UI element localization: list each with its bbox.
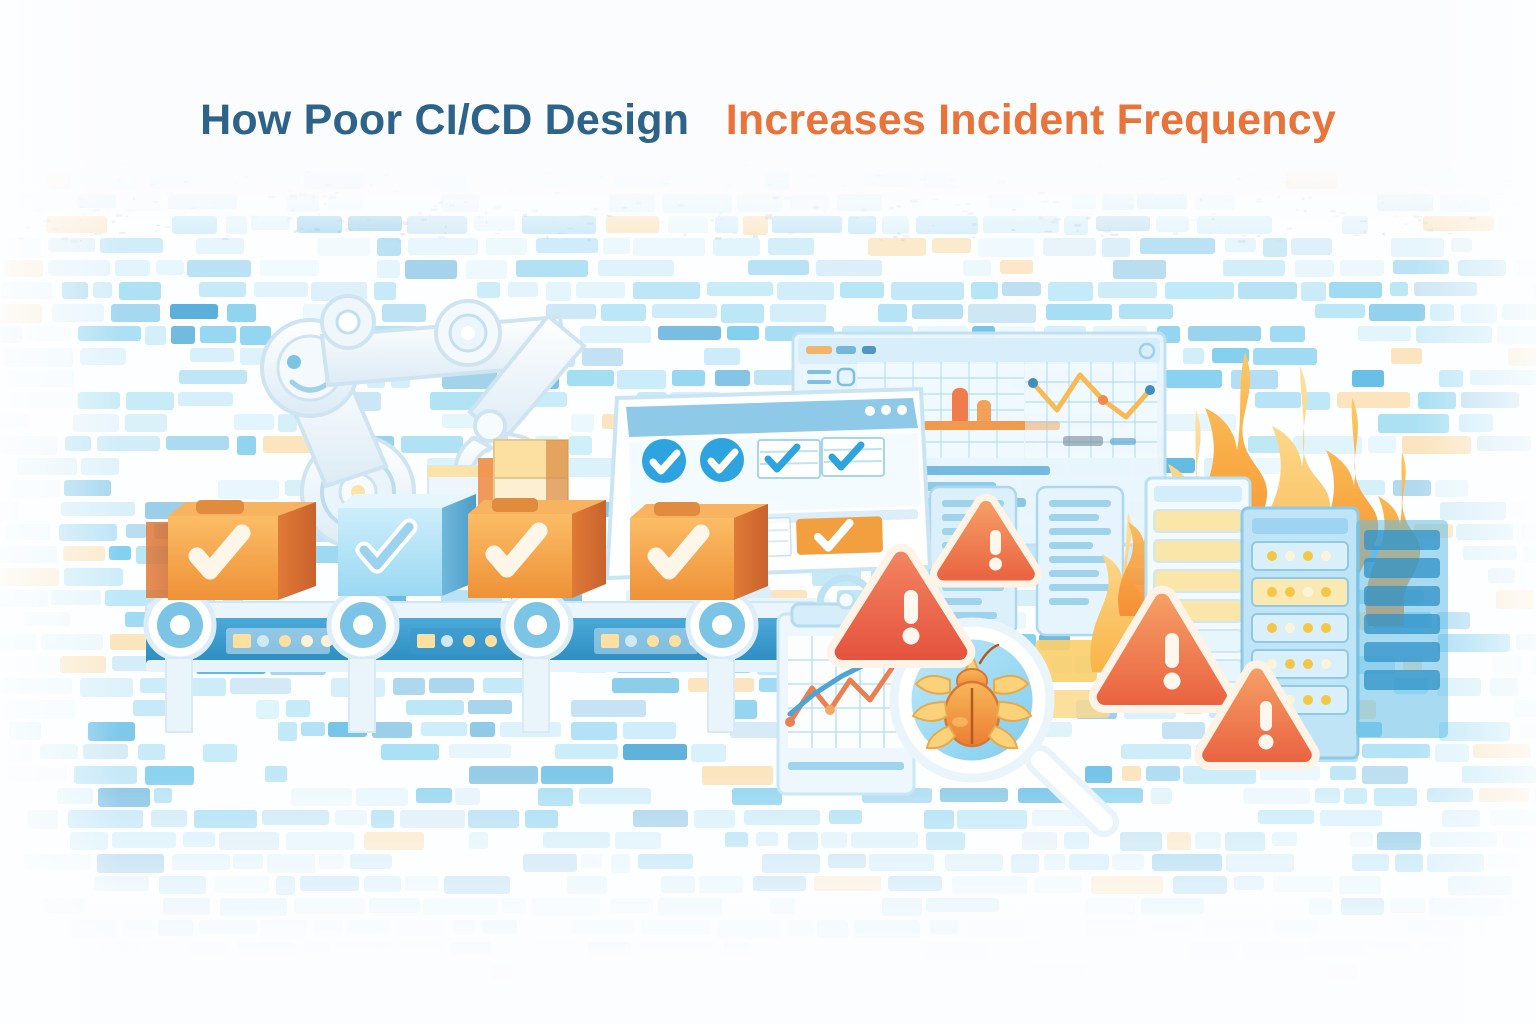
package-boxes xyxy=(146,494,768,600)
page-title: How Poor CI/CD Design Increases Incident… xyxy=(0,96,1536,145)
title-blue: How Poor CI/CD Design xyxy=(200,96,689,144)
package-box xyxy=(468,498,606,598)
scene-artwork xyxy=(0,0,1536,1024)
monitor-action-button[interactable] xyxy=(796,516,883,555)
package-box xyxy=(630,502,768,600)
conveyor-belt[interactable] xyxy=(146,591,818,732)
package-box xyxy=(168,500,316,600)
server-rack-right xyxy=(1356,520,1448,738)
illustration-canvas: How Poor CI/CD Design Increases Incident… xyxy=(0,0,1536,1024)
check-badges xyxy=(642,438,884,483)
package-box xyxy=(338,494,476,596)
title-orange: Increases Incident Frequency xyxy=(726,96,1336,144)
